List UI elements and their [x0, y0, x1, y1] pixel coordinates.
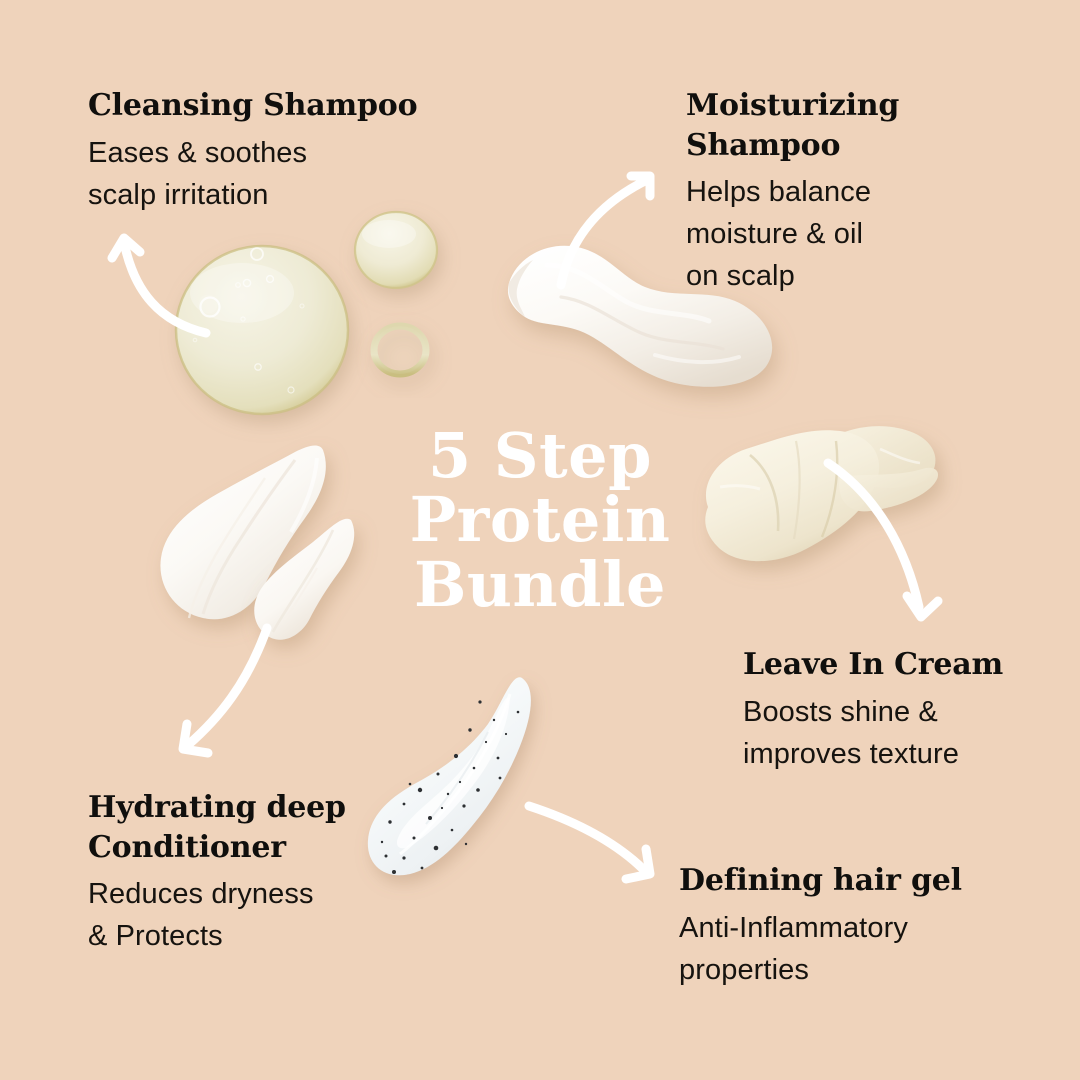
step-label-hydrating-deep-conditioner: Hydrating deep Conditioner Reduces dryne… [88, 788, 418, 957]
step-title-moisturizing-shampoo: Moisturizing Shampoo [686, 86, 1046, 165]
step-title-leave-in-cream: Leave In Cream [743, 645, 1073, 685]
step-description-leave-in-cream: Boosts shine & improves texture [743, 691, 1073, 775]
step-label-moisturizing-shampoo: Moisturizing Shampoo Helps balance moist… [686, 86, 1046, 297]
step-title-hydrating-deep-conditioner: Hydrating deep Conditioner [88, 788, 418, 867]
step-description-defining-hair-gel: Anti-Inflammatory properties [679, 907, 1039, 991]
product-art-white-cream-dollops [145, 438, 395, 663]
step-label-defining-hair-gel: Defining hair gel Anti-Inflammatory prop… [679, 861, 1039, 991]
poster-canvas: Cleansing Shampoo Eases & soothes scalp … [0, 0, 1080, 1080]
step-label-leave-in-cream: Leave In Cream Boosts shine & improves t… [743, 645, 1073, 775]
step-description-hydrating-deep-conditioner: Reduces dryness & Protects [88, 873, 418, 957]
step-description-moisturizing-shampoo: Helps balance moisture & oil on scalp [686, 171, 1046, 297]
step-title-cleansing-shampoo: Cleansing Shampoo [88, 86, 468, 126]
step-label-cleansing-shampoo: Cleansing Shampoo Eases & soothes scalp … [88, 86, 468, 216]
product-art-oil-droplets [150, 205, 470, 420]
product-art-ivory-cream-swatch [690, 415, 950, 590]
poster-center-title: 5 Step Protein Bundle [390, 424, 690, 617]
step-title-defining-hair-gel: Defining hair gel [679, 861, 1039, 901]
step-description-cleansing-shampoo: Eases & soothes scalp irritation [88, 132, 468, 216]
